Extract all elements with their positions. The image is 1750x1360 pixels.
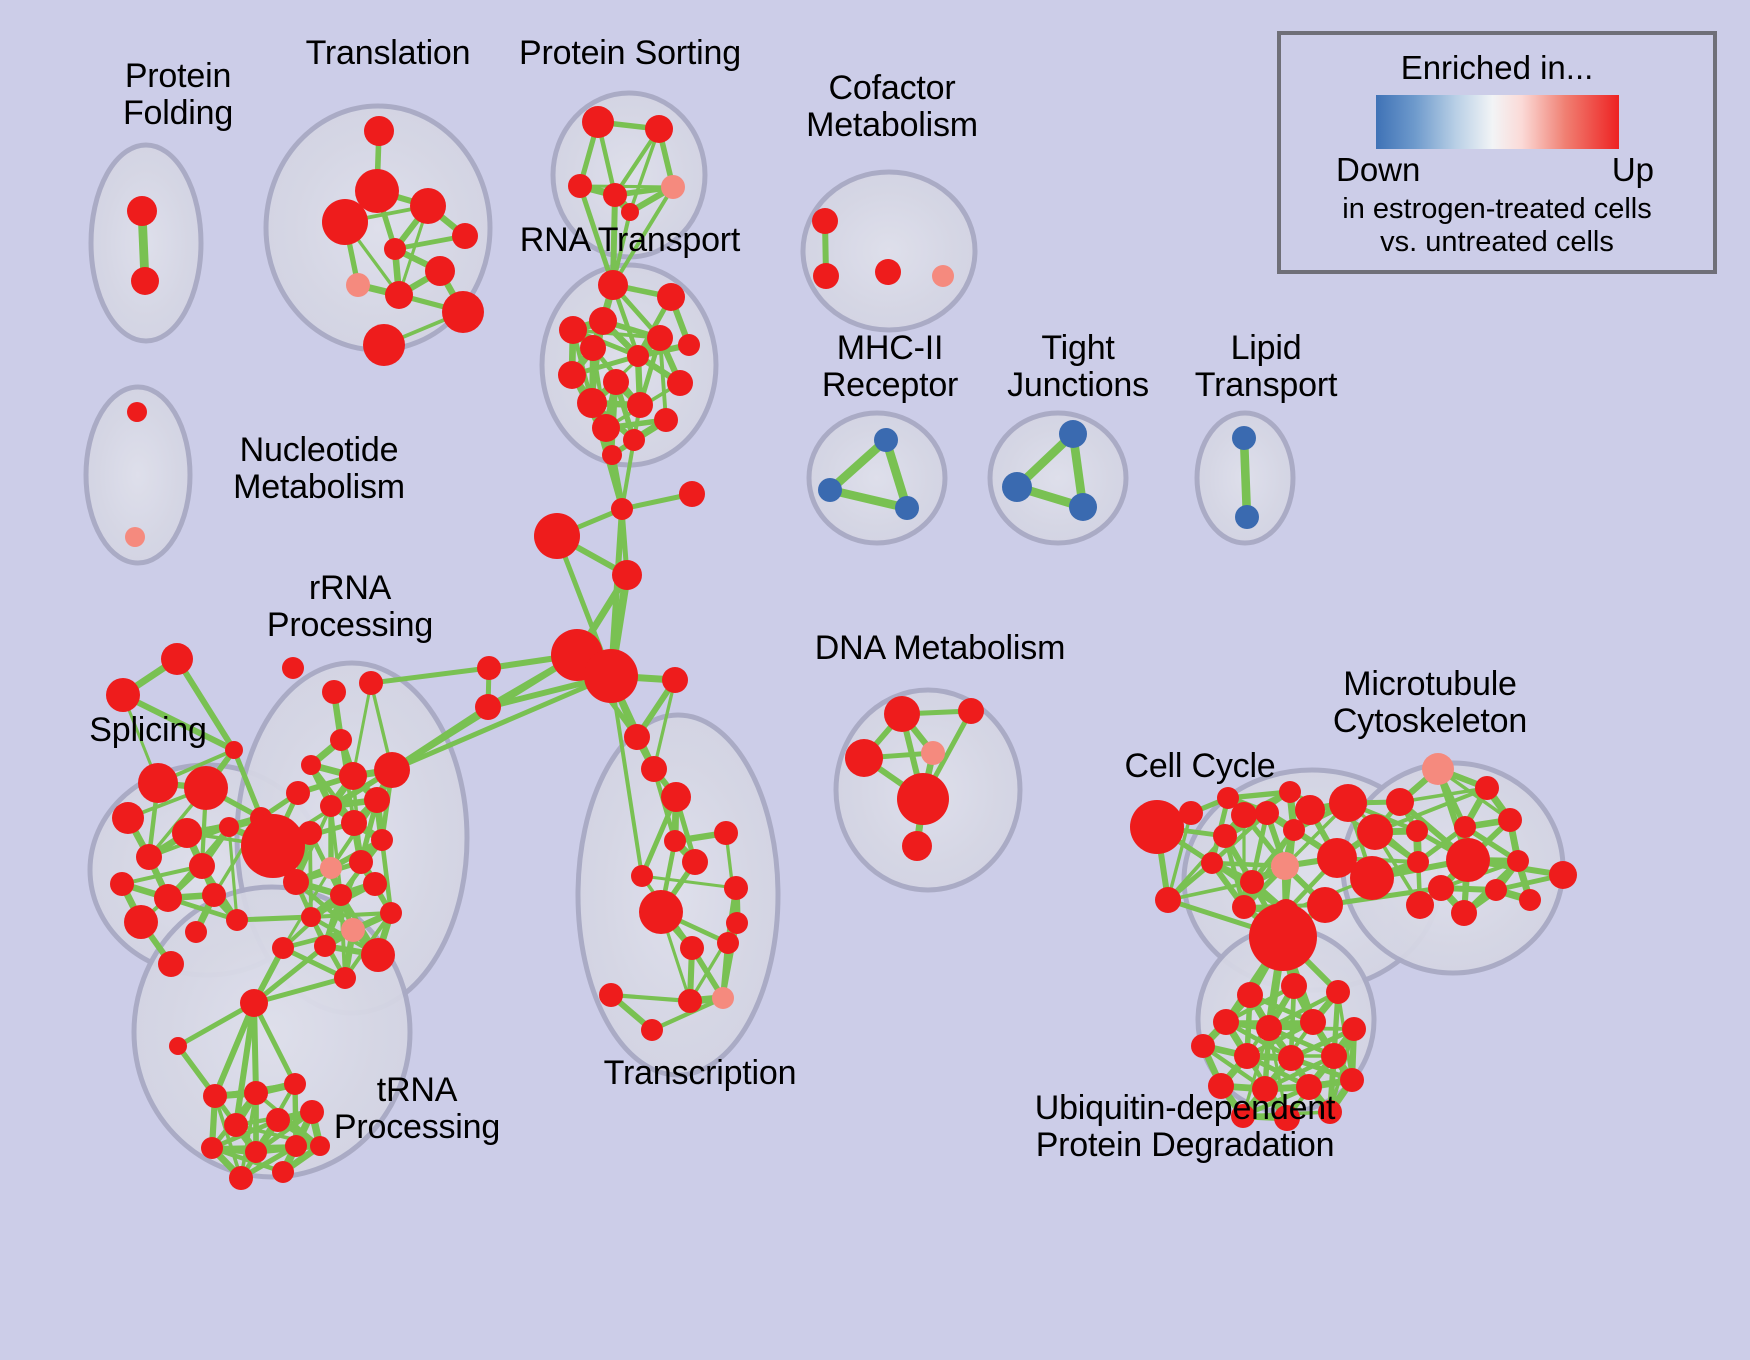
network-node-rr9[interactable] xyxy=(364,787,390,813)
network-node-rr11[interactable] xyxy=(341,810,367,836)
network-node-tn11[interactable] xyxy=(229,1166,253,1190)
network-node-rr23[interactable] xyxy=(361,938,395,972)
network-node-cc12[interactable] xyxy=(1357,814,1393,850)
network-node-tn9[interactable] xyxy=(245,1141,267,1163)
network-node-sp2[interactable] xyxy=(184,766,228,810)
network-node-mt5[interactable] xyxy=(1498,808,1522,832)
network-node-tx9[interactable] xyxy=(724,876,748,900)
network-node-mt12[interactable] xyxy=(1549,861,1577,889)
network-node-tn8[interactable] xyxy=(201,1137,223,1159)
network-node-rt15[interactable] xyxy=(592,414,620,442)
legend-high-label: Up xyxy=(1612,151,1654,189)
network-node-ps2[interactable] xyxy=(645,115,673,143)
network-node-ub6[interactable] xyxy=(1300,1009,1326,1035)
network-node-tj3[interactable] xyxy=(1069,493,1097,521)
network-node-tx3[interactable] xyxy=(661,782,691,812)
network-node-mt10[interactable] xyxy=(1451,900,1477,926)
network-node-ub11[interactable] xyxy=(1321,1043,1347,1069)
network-node-pf1[interactable] xyxy=(127,196,157,226)
network-node-rt6[interactable] xyxy=(678,334,700,356)
network-node-rr12[interactable] xyxy=(298,821,322,845)
network-node-ch7[interactable] xyxy=(477,656,501,680)
network-node-rr5[interactable] xyxy=(301,755,321,775)
network-node-cc22[interactable] xyxy=(1407,851,1429,873)
network-edge xyxy=(237,917,311,920)
network-node-mt4[interactable] xyxy=(1454,816,1476,838)
network-node-ub1[interactable] xyxy=(1237,982,1263,1008)
network-node-cc20[interactable] xyxy=(1217,787,1239,809)
network-node-rt14[interactable] xyxy=(654,408,678,432)
cluster-label-tight-junctions: Tight Junctions xyxy=(978,330,1178,403)
network-node-sp0[interactable] xyxy=(161,643,193,675)
network-node-mt6[interactable] xyxy=(1446,838,1490,882)
network-node-rr22[interactable] xyxy=(314,935,336,957)
network-node-mh1[interactable] xyxy=(874,428,898,452)
network-node-tr9[interactable] xyxy=(385,281,413,309)
network-node-mt9[interactable] xyxy=(1485,879,1507,901)
network-node-rr2[interactable] xyxy=(322,680,346,704)
cluster-label-rrna-processing: rRNA Processing xyxy=(240,570,460,643)
network-node-ch2[interactable] xyxy=(611,498,633,520)
legend-low-label: Down xyxy=(1336,151,1420,189)
network-node-ch6[interactable] xyxy=(584,649,638,703)
network-node-sp4[interactable] xyxy=(172,818,202,848)
network-node-tr6[interactable] xyxy=(384,238,406,260)
network-node-mh2[interactable] xyxy=(818,478,842,502)
network-node-tr3[interactable] xyxy=(410,188,446,224)
network-node-rr18[interactable] xyxy=(363,872,387,896)
network-node-cf3[interactable] xyxy=(875,259,901,285)
network-node-ub4[interactable] xyxy=(1213,1009,1239,1035)
network-node-tx14[interactable] xyxy=(641,1019,663,1041)
network-node-rt9[interactable] xyxy=(558,361,586,389)
network-node-rt3[interactable] xyxy=(589,307,617,335)
network-node-ub2[interactable] xyxy=(1281,973,1307,999)
network-node-rt5[interactable] xyxy=(647,325,673,351)
network-node-rr7[interactable] xyxy=(339,762,367,790)
network-node-tr5[interactable] xyxy=(452,223,478,249)
network-node-dn3[interactable] xyxy=(845,739,883,777)
network-node-tx6[interactable] xyxy=(714,821,738,845)
network-node-rt13[interactable] xyxy=(627,392,653,418)
network-node-cc17[interactable] xyxy=(1307,887,1343,923)
network-node-rt16[interactable] xyxy=(623,429,645,451)
network-node-tn5[interactable] xyxy=(224,1113,248,1137)
cluster-label-nucleotide-metabolism: Nucleotide Metabolism xyxy=(194,432,444,505)
network-node-sp9[interactable] xyxy=(110,872,134,896)
network-node-rt17[interactable] xyxy=(602,445,622,465)
network-node-tx11[interactable] xyxy=(717,932,739,954)
network-node-mt1[interactable] xyxy=(1422,753,1454,785)
network-node-mt11[interactable] xyxy=(1519,889,1541,911)
network-node-rt8[interactable] xyxy=(627,345,649,367)
network-node-cc23[interactable] xyxy=(1249,903,1317,971)
network-node-ub3[interactable] xyxy=(1326,980,1350,1004)
network-node-cc19[interactable] xyxy=(1179,801,1203,825)
network-node-ub8[interactable] xyxy=(1191,1034,1215,1058)
network-node-tr8[interactable] xyxy=(346,273,370,297)
network-node-rr21[interactable] xyxy=(380,902,402,924)
network-node-rt12[interactable] xyxy=(577,388,607,418)
network-node-tx13[interactable] xyxy=(599,983,623,1007)
network-node-sp3[interactable] xyxy=(112,802,144,834)
network-node-ch3[interactable] xyxy=(534,513,580,559)
cluster-label-translation: Translation xyxy=(268,35,508,72)
network-node-dn4[interactable] xyxy=(921,741,945,765)
network-node-rr20[interactable] xyxy=(341,918,365,942)
network-node-tx10[interactable] xyxy=(680,936,704,960)
network-node-cc6[interactable] xyxy=(1213,824,1237,848)
network-node-mt8[interactable] xyxy=(1428,875,1454,901)
network-node-rr17[interactable] xyxy=(330,884,352,906)
network-node-tx7[interactable] xyxy=(682,849,708,875)
cluster-ellipse-transcription xyxy=(578,715,778,1075)
legend-box: Enriched in... Down Up in estrogen-treat… xyxy=(1277,31,1717,274)
network-node-ps4[interactable] xyxy=(603,183,627,207)
network-node-cf2[interactable] xyxy=(813,263,839,289)
cluster-label-mhc-ii-receptor: MHC-II Receptor xyxy=(790,330,990,403)
cluster-label-microtubule-cytoskeleton: Microtubule Cytoskeleton xyxy=(1290,666,1570,739)
network-node-tn4[interactable] xyxy=(284,1073,306,1095)
network-node-rt1[interactable] xyxy=(598,270,628,300)
network-node-dn6[interactable] xyxy=(902,831,932,861)
network-node-sp11[interactable] xyxy=(202,883,226,907)
network-node-rt2[interactable] xyxy=(657,283,685,311)
network-node-cc3[interactable] xyxy=(1255,801,1279,825)
network-node-cf1[interactable] xyxy=(812,208,838,234)
cluster-label-protein-sorting: Protein Sorting xyxy=(490,35,770,72)
network-node-rr16[interactable] xyxy=(283,869,309,895)
network-node-lt1[interactable] xyxy=(1232,426,1256,450)
network-node-ps6[interactable] xyxy=(621,203,639,221)
network-node-rr15[interactable] xyxy=(349,850,373,874)
cluster-label-protein-folding: Protein Folding xyxy=(78,58,278,131)
network-node-cf4[interactable] xyxy=(932,265,954,287)
network-node-rt4[interactable] xyxy=(559,316,587,344)
legend-title: Enriched in... xyxy=(1281,49,1713,87)
network-node-tx1[interactable] xyxy=(624,724,650,750)
network-node-cc1[interactable] xyxy=(1130,800,1184,854)
network-node-rr6[interactable] xyxy=(374,752,410,788)
network-node-cc10[interactable] xyxy=(1240,870,1264,894)
network-node-mt3[interactable] xyxy=(1475,776,1499,800)
network-node-cc8[interactable] xyxy=(1329,784,1367,822)
network-node-tx12[interactable] xyxy=(631,865,653,887)
network-node-rt11[interactable] xyxy=(667,370,693,396)
network-node-rr3[interactable] xyxy=(359,671,383,695)
network-node-dn2[interactable] xyxy=(958,698,984,724)
network-node-ub7[interactable] xyxy=(1342,1017,1366,1041)
network-node-tr7[interactable] xyxy=(425,256,455,286)
network-node-ch8[interactable] xyxy=(475,694,501,720)
network-node-sp15[interactable] xyxy=(241,814,305,878)
network-node-cc2[interactable] xyxy=(1155,887,1181,913)
network-node-dn1[interactable] xyxy=(884,696,920,732)
network-node-tr11[interactable] xyxy=(363,324,405,366)
network-node-rr24[interactable] xyxy=(272,937,294,959)
network-node-tn3[interactable] xyxy=(244,1081,268,1105)
network-node-sp10[interactable] xyxy=(154,884,182,912)
network-node-rr4[interactable] xyxy=(330,729,352,751)
network-node-pf2[interactable] xyxy=(131,267,159,295)
network-node-rr10[interactable] xyxy=(320,795,342,817)
network-node-rr8[interactable] xyxy=(286,781,310,805)
network-node-rt10[interactable] xyxy=(603,369,629,395)
network-node-nm1[interactable] xyxy=(127,402,147,422)
network-node-tr10[interactable] xyxy=(442,291,484,333)
network-node-rr13[interactable] xyxy=(371,829,393,851)
network-node-mt2[interactable] xyxy=(1386,788,1414,816)
network-node-cc18[interactable] xyxy=(1201,852,1223,874)
network-node-ub5[interactable] xyxy=(1256,1015,1282,1041)
network-node-rr14[interactable] xyxy=(320,857,342,879)
network-node-mt7[interactable] xyxy=(1507,850,1529,872)
network-node-tx15[interactable] xyxy=(678,989,702,1013)
network-node-ps3[interactable] xyxy=(568,174,592,198)
network-node-rr26[interactable] xyxy=(334,967,356,989)
network-node-nm2[interactable] xyxy=(125,527,145,547)
network-node-sp00[interactable] xyxy=(106,678,140,712)
cluster-label-cofactor-metabolism: Cofactor Metabolism xyxy=(772,70,1012,143)
network-node-ps1[interactable] xyxy=(582,106,614,138)
network-node-sp12[interactable] xyxy=(124,905,158,939)
cluster-ellipse-cofactor-metabolism xyxy=(803,172,975,330)
network-node-cc24[interactable] xyxy=(1406,891,1434,919)
network-node-dn5[interactable] xyxy=(897,773,949,825)
network-node-cc21[interactable] xyxy=(1406,820,1428,842)
network-node-tx4[interactable] xyxy=(662,667,688,693)
legend-colorbar xyxy=(1376,95,1619,149)
network-node-sp16[interactable] xyxy=(158,951,184,977)
network-node-tj2[interactable] xyxy=(1002,472,1032,502)
cluster-label-ubiquitin-degradation: Ubiquitin-dependent Protein Degradation xyxy=(985,1090,1385,1163)
cluster-label-rna-transport: RNA Transport xyxy=(490,222,770,259)
network-node-ub9[interactable] xyxy=(1234,1043,1260,1069)
network-node-ps5[interactable] xyxy=(661,175,685,199)
network-node-tx16[interactable] xyxy=(712,987,734,1009)
network-node-sp8[interactable] xyxy=(189,853,215,879)
network-node-tr4[interactable] xyxy=(322,199,368,245)
network-node-tj1[interactable] xyxy=(1059,420,1087,448)
network-node-sp14[interactable] xyxy=(226,909,248,931)
network-node-ub15[interactable] xyxy=(1340,1068,1364,1092)
network-node-mh3[interactable] xyxy=(895,496,919,520)
network-node-tn12[interactable] xyxy=(272,1161,294,1183)
cluster-label-dna-metabolism: DNA Metabolism xyxy=(800,630,1080,667)
network-node-rr1[interactable] xyxy=(282,657,304,679)
network-node-sp13[interactable] xyxy=(185,921,207,943)
legend-endpoints: Down Up xyxy=(1342,151,1652,191)
network-node-ch1[interactable] xyxy=(679,481,705,507)
network-figure: Protein FoldingTranslationProtein Sortin… xyxy=(0,0,1750,1360)
network-node-cc11[interactable] xyxy=(1283,819,1305,841)
cluster-label-cell-cycle: Cell Cycle xyxy=(1090,748,1310,785)
network-node-tx5[interactable] xyxy=(664,830,686,852)
cluster-label-lipid-transport: Lipid Transport xyxy=(1166,330,1366,403)
cluster-label-transcription: Transcription xyxy=(570,1055,830,1092)
network-node-rr25[interactable] xyxy=(240,989,268,1017)
network-node-tr1[interactable] xyxy=(364,116,394,146)
network-node-sp7[interactable] xyxy=(136,844,162,870)
network-node-lt2[interactable] xyxy=(1235,505,1259,529)
cluster-label-splicing: Splicing xyxy=(58,712,238,749)
cluster-label-trna-processing: tRNA Processing xyxy=(312,1072,522,1145)
network-node-cc14[interactable] xyxy=(1350,856,1394,900)
network-node-tn2[interactable] xyxy=(203,1084,227,1108)
network-node-cc15[interactable] xyxy=(1232,895,1256,919)
network-node-rr19[interactable] xyxy=(301,907,321,927)
legend-subtitle: in estrogen-treated cells vs. untreated … xyxy=(1281,193,1713,259)
network-node-tn10[interactable] xyxy=(285,1135,307,1157)
network-node-tx17[interactable] xyxy=(726,912,748,934)
network-node-tn6[interactable] xyxy=(266,1108,290,1132)
network-node-ch4[interactable] xyxy=(612,560,642,590)
network-node-tx2[interactable] xyxy=(641,756,667,782)
network-node-tn1[interactable] xyxy=(169,1037,187,1055)
network-node-ub10[interactable] xyxy=(1278,1045,1304,1071)
network-node-rt7[interactable] xyxy=(580,335,606,361)
network-node-sp5[interactable] xyxy=(219,817,239,837)
network-node-tx8[interactable] xyxy=(639,890,683,934)
network-node-cc9[interactable] xyxy=(1271,852,1299,880)
network-node-sp1[interactable] xyxy=(138,763,178,803)
